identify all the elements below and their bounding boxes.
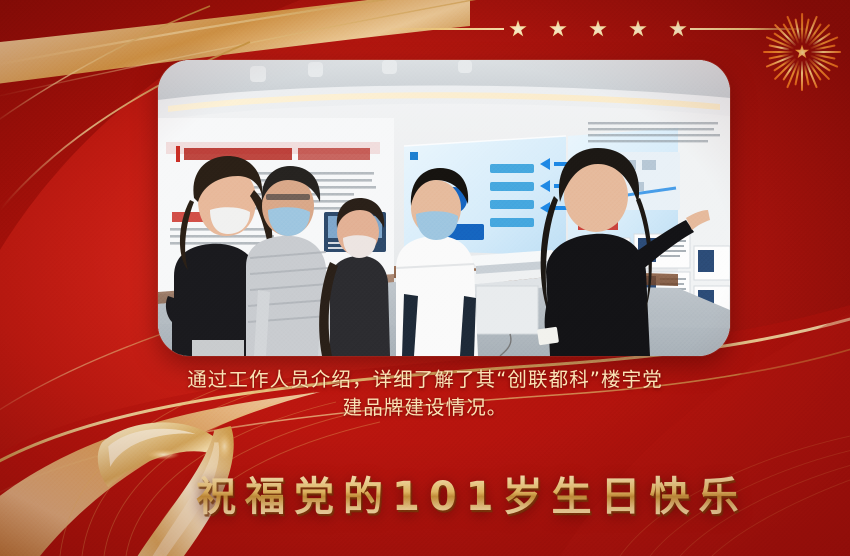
five-point-star-icon (589, 20, 607, 38)
main-title: 祝福党的101岁生日快乐 (196, 464, 748, 522)
photo-frame: i (158, 60, 730, 356)
firework-core (795, 45, 810, 60)
firework-burst-icon (760, 10, 844, 94)
five-point-star-icon (549, 20, 567, 38)
photo-caption: 通过工作人员介绍，详细了解了其“创联都科”楼宇党 建品牌建设情况。 (120, 366, 730, 421)
poster-canvas: i (0, 0, 850, 556)
five-point-star-icon (669, 20, 687, 38)
caption-line-1: 通过工作人员介绍，详细了解了其“创联都科”楼宇党 (120, 366, 730, 394)
five-point-star-icon (629, 20, 647, 38)
five-point-star-icon (509, 20, 527, 38)
exhibition-hall-photo: i (158, 60, 730, 356)
star-divider-line-left (386, 28, 504, 30)
caption-line-2: 建品牌建设情况。 (120, 394, 730, 422)
firework-ray (763, 51, 793, 53)
